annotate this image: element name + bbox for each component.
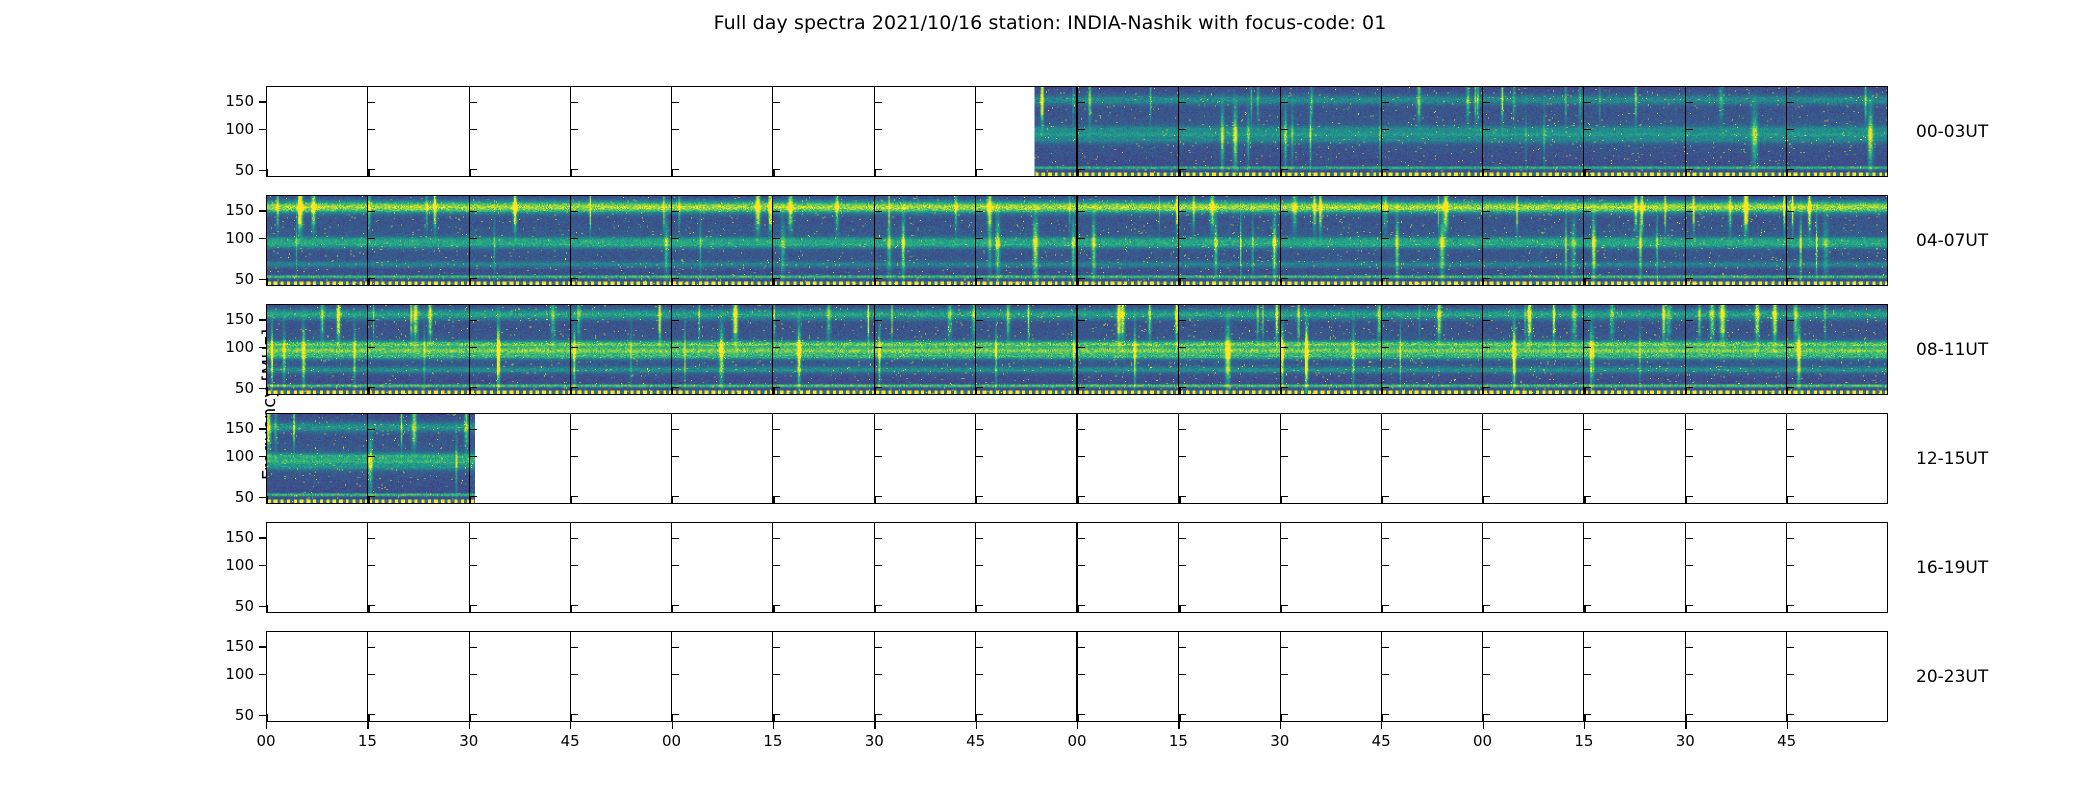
spectrogram-image [1078,305,1178,394]
spectrogram-panel [1179,196,1280,285]
x-tick-mark [672,169,673,176]
y-tick-mark [976,538,983,539]
row-label-16-19ut: 16-19UT [1916,558,1988,578]
x-tick-mark [1382,496,1383,503]
spectrogram-panel [1686,632,1787,721]
y-tick-mark [773,320,780,321]
y-tick-mark [976,320,983,321]
y-tick-mark [672,347,679,348]
y-tick-mark [1584,429,1591,430]
x-tick-mark [368,387,369,394]
y-axis-tick-label: 100 [208,338,254,356]
x-tick-mark [1281,496,1282,503]
y-axis-tick [259,101,266,102]
y-tick-mark [368,347,375,348]
x-tick-mark [1382,278,1383,285]
spectrogram-panel [470,523,571,612]
y-tick-mark [368,129,375,130]
spectrogram-panel [976,414,1078,503]
x-tick-mark [1584,169,1585,176]
y-tick-mark [368,647,375,648]
y-tick-mark [1281,320,1288,321]
y-tick-mark [571,674,578,675]
x-tick-mark [1584,605,1585,612]
y-axis-tick-label: 100 [208,556,254,574]
x-tick-mark [1787,714,1788,721]
y-tick-mark [1686,674,1693,675]
y-tick-mark [976,129,983,130]
y-tick-mark [1787,674,1794,675]
y-tick-mark [1382,565,1389,566]
y-tick-mark [470,102,477,103]
spectrogram-panel [470,87,571,176]
spectrogram-image [1483,196,1583,285]
y-axis-tick-label: 50 [208,379,254,397]
x-tick-mark [1483,496,1484,503]
y-tick-mark [773,429,780,430]
x-tick-mark [672,278,673,285]
row-label-00-03ut: 00-03UT [1916,122,1988,142]
spectrogram-panel [368,632,469,721]
y-tick-mark [1281,538,1288,539]
y-tick-mark [976,238,983,239]
x-tick-mark [267,387,268,394]
spectrogram-image [1787,87,1887,176]
x-tick-mark [1787,169,1788,176]
x-axis-tick [570,722,571,729]
spectrogram-panel [1584,632,1685,721]
x-tick-mark [1179,387,1180,394]
y-tick-mark [1787,538,1794,539]
x-tick-mark [1078,169,1079,176]
x-tick-mark [1686,169,1687,176]
row-label-08-11ut: 08-11UT [1916,340,1988,360]
y-tick-mark [1179,674,1186,675]
spectrogram-panel [1787,523,1887,612]
x-tick-mark [267,169,268,176]
x-tick-mark [1281,605,1282,612]
y-tick-mark [875,429,882,430]
x-tick-mark [1584,714,1585,721]
y-tick-mark [672,238,679,239]
spectrogram-panel [368,87,469,176]
y-tick-mark [1382,238,1389,239]
y-tick-mark [571,456,578,457]
y-tick-mark [1078,674,1085,675]
spectrogram-panel [1686,414,1787,503]
y-axis-tick [259,456,266,457]
y-tick-mark [773,647,780,648]
spectrogram-image [1179,87,1279,176]
y-tick-mark [773,102,780,103]
x-tick-mark [773,278,774,285]
y-tick-mark [672,647,679,648]
spectrogram-image [1584,305,1684,394]
spectrogram-panel [368,414,469,503]
spectrogram-image [470,305,570,394]
y-tick-mark [1078,565,1085,566]
spectrogram-image [773,196,873,285]
y-tick-mark [1686,565,1693,566]
x-tick-mark [1078,496,1079,503]
y-tick-mark [571,211,578,212]
x-tick-mark [470,169,471,176]
x-tick-mark [773,169,774,176]
x-tick-mark [571,496,572,503]
spectrogram-panel [1584,87,1685,176]
spectrogram-image [976,305,1076,394]
spectrogram-image [773,305,873,394]
x-axis-tick-label: 30 [1270,732,1289,750]
spectrogram-panel [571,632,672,721]
spectrogram-image [368,305,468,394]
y-tick-mark [1078,647,1085,648]
y-tick-mark [1483,674,1490,675]
spectrogram-row [266,413,1888,504]
spectrogram-image [1281,87,1381,176]
x-axis-tick [1280,722,1281,729]
spectrogram-image [368,414,468,503]
spectrogram-panel [1686,305,1787,394]
x-tick-mark [368,714,369,721]
spectrogram-panel [1281,523,1382,612]
spectrogram-image [1584,87,1684,176]
y-tick-mark [1281,647,1288,648]
x-tick-mark [875,278,876,285]
spectrogram-image [1078,87,1178,176]
spectrogram-image [571,305,671,394]
y-tick-mark [976,674,983,675]
y-tick-mark [1281,129,1288,130]
y-tick-mark [1281,565,1288,566]
spectrogram-image [875,305,975,394]
y-tick-mark [1584,674,1591,675]
y-tick-mark [1787,129,1794,130]
y-tick-mark [1483,320,1490,321]
y-axis-tick [259,388,266,389]
y-tick-mark [368,674,375,675]
spectrogram-panel [875,87,976,176]
spectrogram-image [1179,305,1279,394]
y-tick-mark [1584,347,1591,348]
y-axis-tick [259,715,266,716]
spectrogram-panel [1179,632,1280,721]
y-tick-mark [1483,347,1490,348]
x-axis-tick [367,722,368,729]
spectrogram-panel [875,305,976,394]
spectrogram-image [470,414,570,503]
spectrogram-panel [1179,523,1280,612]
spectrogram-panel [470,632,571,721]
x-tick-mark [1584,496,1585,503]
spectrogram-panel [267,414,368,503]
spectrogram-panel [1686,87,1787,176]
y-tick-mark [1382,320,1389,321]
y-tick-mark [1584,647,1591,648]
spectrogram-image [1179,196,1279,285]
y-tick-mark [1483,129,1490,130]
x-axis-tick [1787,722,1788,729]
spectrogram-panel [368,523,469,612]
y-tick-mark [875,538,882,539]
spectrogram-image [1483,87,1583,176]
y-axis-tick [259,606,266,607]
spectrogram-panel [1281,414,1382,503]
y-axis-tick-label: 50 [208,270,254,288]
x-axis-tick-label: 45 [1372,732,1391,750]
x-tick-mark [672,496,673,503]
x-tick-mark [470,605,471,612]
y-tick-mark [1686,238,1693,239]
spectrogram-panel [267,632,368,721]
spectrogram-panel [1078,196,1179,285]
spectrogram-image [571,196,671,285]
x-tick-mark [976,714,977,721]
y-tick-mark [1179,320,1186,321]
spectrogram-image [1787,196,1887,285]
spectrogram-image [1078,196,1178,285]
y-axis-tick [259,674,266,675]
spectrogram-panel [1787,305,1887,394]
y-tick-mark [1483,456,1490,457]
y-tick-mark [470,347,477,348]
y-tick-mark [1787,565,1794,566]
y-tick-mark [571,647,578,648]
spectrogram-panel [672,523,773,612]
x-tick-mark [470,278,471,285]
y-tick-mark [1483,647,1490,648]
x-axis-tick [672,722,673,729]
spectrogram-panel [1281,87,1382,176]
y-tick-mark [470,320,477,321]
spectrogram-panel [1686,196,1787,285]
y-tick-mark [470,565,477,566]
spectrogram-panel [773,196,874,285]
x-tick-mark [976,605,977,612]
y-tick-mark [1382,211,1389,212]
spectrogram-row [266,86,1888,177]
x-axis-tick-label: 15 [1169,732,1188,750]
spectrogram-panel [1281,632,1382,721]
y-tick-mark [470,211,477,212]
y-tick-mark [1483,565,1490,566]
y-tick-mark [571,238,578,239]
x-tick-mark [1686,496,1687,503]
x-tick-mark [875,496,876,503]
y-axis-tick-label: 100 [208,665,254,683]
y-tick-mark [368,565,375,566]
x-tick-mark [1281,387,1282,394]
y-axis-tick [259,129,266,130]
x-axis-tick-label: 15 [763,732,782,750]
y-tick-mark [571,320,578,321]
y-tick-mark [672,456,679,457]
x-tick-mark [267,278,268,285]
y-tick-mark [1584,238,1591,239]
y-tick-mark [1179,538,1186,539]
y-tick-mark [1686,211,1693,212]
y-tick-mark [1584,456,1591,457]
spectrogram-panel [1787,414,1887,503]
y-tick-mark [1787,647,1794,648]
x-tick-mark [267,605,268,612]
y-tick-mark [875,211,882,212]
spectrogram-panel [267,196,368,285]
y-tick-mark [1787,238,1794,239]
y-tick-mark [875,238,882,239]
y-tick-mark [571,129,578,130]
spectrogram-panel [1787,632,1887,721]
x-tick-mark [1787,605,1788,612]
x-axis-tick-label: 00 [1473,732,1492,750]
spectrogram-panel [1483,523,1584,612]
y-tick-mark [1483,102,1490,103]
y-tick-mark [1584,565,1591,566]
y-axis-tick [259,210,266,211]
spectrogram-panel [1483,87,1584,176]
spectrogram-panel [571,87,672,176]
y-tick-mark [1382,674,1389,675]
y-tick-mark [1686,538,1693,539]
x-tick-mark [1281,278,1282,285]
y-axis-tick-label: 100 [208,229,254,247]
y-tick-mark [1078,429,1085,430]
y-tick-mark [571,538,578,539]
x-tick-mark [1686,605,1687,612]
x-tick-mark [1382,714,1383,721]
y-tick-mark [976,102,983,103]
x-tick-mark [1787,387,1788,394]
y-tick-mark [470,538,477,539]
spectrogram-panel [267,305,368,394]
plot-area [266,86,1888,722]
y-tick-mark [368,538,375,539]
spectrogram-image [1686,196,1786,285]
x-tick-mark [1078,605,1079,612]
spectrogram-panel [773,414,874,503]
y-axis-tick-label: 100 [208,447,254,465]
x-tick-mark [1078,714,1079,721]
spectrogram-panel [1483,632,1584,721]
y-tick-mark [1787,102,1794,103]
y-tick-mark [1281,429,1288,430]
x-tick-mark [470,496,471,503]
x-tick-mark [368,278,369,285]
spectrogram-panel [875,632,976,721]
y-axis-tick [259,537,266,538]
x-tick-mark [672,714,673,721]
x-tick-mark [1281,714,1282,721]
spectrogram-panel [773,305,874,394]
y-tick-mark [1787,211,1794,212]
spectrogram-image [267,414,367,503]
y-tick-mark [1179,238,1186,239]
spectrogram-image [1483,305,1583,394]
x-tick-mark [267,496,268,503]
x-tick-mark [470,714,471,721]
x-tick-mark [1584,278,1585,285]
y-axis-tick [259,646,266,647]
spectrogram-panel [267,523,368,612]
y-tick-mark [470,429,477,430]
x-axis-tick [1381,722,1382,729]
y-tick-mark [875,102,882,103]
spectrogram-panel [1382,87,1483,176]
x-axis-tick-label: 00 [256,732,275,750]
spectrogram-panel [571,414,672,503]
y-tick-mark [571,429,578,430]
x-tick-mark [1078,278,1079,285]
x-tick-mark [368,605,369,612]
y-tick-mark [875,320,882,321]
x-tick-mark [1686,387,1687,394]
y-axis-tick [259,347,266,348]
y-tick-mark [976,429,983,430]
y-axis-tick-label: 50 [208,706,254,724]
x-tick-mark [1686,278,1687,285]
x-axis-tick-label: 00 [662,732,681,750]
spectrogram-image [470,196,570,285]
y-tick-mark [1078,456,1085,457]
y-axis-tick-label: 150 [208,637,254,655]
y-tick-mark [368,429,375,430]
spectrogram-row [266,522,1888,613]
spectrogram-panel [976,87,1078,176]
y-tick-mark [672,211,679,212]
spectrogram-panel [1078,305,1179,394]
spectrogram-panel [1078,632,1179,721]
x-tick-mark [672,387,673,394]
spectrogram-panel [773,87,874,176]
y-tick-mark [470,674,477,675]
y-tick-mark [773,211,780,212]
spectrogram-row [266,304,1888,395]
y-tick-mark [368,320,375,321]
spectrogram-panel [571,523,672,612]
spectrogram-panel [976,196,1078,285]
x-tick-mark [368,169,369,176]
spectrogram-panel [1584,305,1685,394]
y-tick-mark [1686,320,1693,321]
spectrogram-panel [267,87,368,176]
spectrogram-panel [571,305,672,394]
y-tick-mark [1179,129,1186,130]
y-tick-mark [1382,429,1389,430]
figure-title: Full day spectra 2021/10/16 station: IND… [0,12,2100,34]
y-tick-mark [875,129,882,130]
x-tick-mark [1483,714,1484,721]
x-axis-tick-label: 15 [1574,732,1593,750]
spectrogram-panel [1686,523,1787,612]
y-tick-mark [976,347,983,348]
spectrogram-image [1686,305,1786,394]
x-axis-tick [1685,722,1686,729]
row-label-12-15ut: 12-15UT [1916,449,1988,469]
y-tick-mark [1686,347,1693,348]
x-axis-tick-label: 30 [459,732,478,750]
x-tick-mark [976,169,977,176]
y-tick-mark [1179,565,1186,566]
spectrogram-panel [470,196,571,285]
y-axis-tick [259,170,266,171]
y-tick-mark [875,347,882,348]
spectrogram-panel [1584,414,1685,503]
spectrogram-image [267,305,367,394]
x-tick-mark [773,387,774,394]
spectrogram-panel [1584,196,1685,285]
spectrogram-panel [1078,414,1179,503]
y-tick-mark [1483,538,1490,539]
